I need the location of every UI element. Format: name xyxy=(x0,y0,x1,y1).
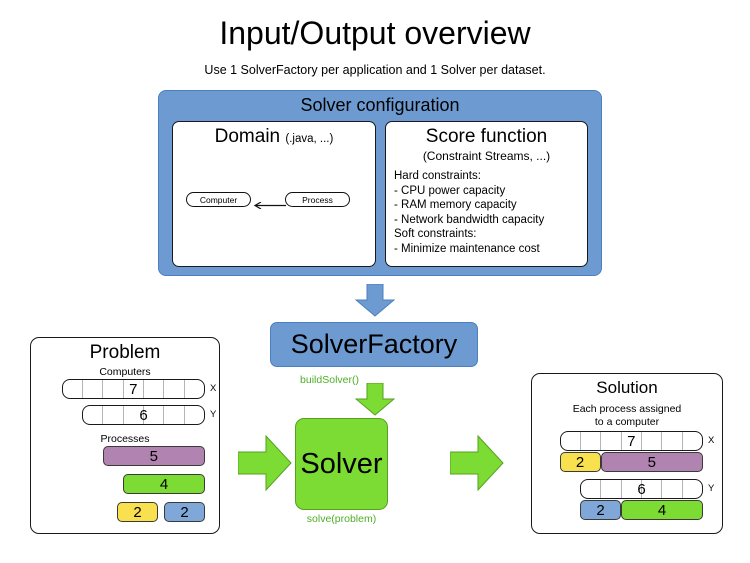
constraint-line: Hard constraints: xyxy=(394,169,584,184)
process-bar: 5 xyxy=(103,446,206,466)
process-value: 4 xyxy=(658,502,666,519)
computer-capacity-bar: 6 xyxy=(580,479,703,499)
solve-problem-label: solve(problem) xyxy=(295,513,388,526)
domain-title-sub: (.java, ...) xyxy=(285,133,333,145)
computer-name-label: X xyxy=(708,431,714,451)
capacity-value: 6 xyxy=(637,481,645,498)
process-bar: 2 xyxy=(560,452,601,472)
problem-processes-label: Processes xyxy=(30,433,220,446)
computer-capacity-bar: 6 xyxy=(82,405,205,425)
process-value: 5 xyxy=(648,454,656,471)
domain-title: Domain (.java, ...) xyxy=(172,124,376,152)
constraint-line: - CPU power capacity xyxy=(394,184,584,199)
score-function-subtitle: (Constraint Streams, ...) xyxy=(385,148,588,164)
problem-title: Problem xyxy=(30,340,220,365)
process-bar: 2 xyxy=(580,500,621,520)
computer-name-label: Y xyxy=(708,479,714,499)
constraint-line: Soft constraints: xyxy=(394,227,584,242)
process-bar: 4 xyxy=(621,500,703,520)
arrow-right-green-input-icon xyxy=(238,434,292,492)
constraint-line: - Network bandwidth capacity xyxy=(394,213,584,228)
arrow-down-green-icon xyxy=(355,383,395,416)
computer-name-label: X xyxy=(210,379,216,399)
page-subtitle: Use 1 SolverFactory per application and … xyxy=(0,62,750,78)
process-value: 2 xyxy=(576,454,584,471)
score-function-title: Score function xyxy=(385,124,588,149)
process-value: 2 xyxy=(180,504,188,521)
solution-note-line-1: Each process assigned xyxy=(531,403,723,416)
computer-capacity-bar: 7 xyxy=(62,379,206,399)
process-bar: 2 xyxy=(117,502,158,522)
problem-computers-label: Computers xyxy=(30,366,220,379)
process-value: 2 xyxy=(596,502,604,519)
computer-capacity-bar: 7 xyxy=(560,431,704,451)
arrow-right-green-output-icon xyxy=(450,434,504,492)
process-value: 5 xyxy=(150,448,158,465)
solver-configuration-title: Solver configuration xyxy=(158,93,602,117)
capacity-value: 7 xyxy=(129,381,137,398)
solution-title: Solution xyxy=(531,376,723,399)
constraint-line: - RAM memory capacity xyxy=(394,198,584,213)
arrow-down-blue-icon xyxy=(355,284,395,317)
solution-note-line-2: to a computer xyxy=(531,416,723,429)
page-title: Input/Output overview xyxy=(0,14,750,52)
capacity-value: 7 xyxy=(627,433,635,450)
process-bar: 5 xyxy=(601,452,704,472)
computer-name-label: Y xyxy=(210,405,216,425)
constraints-list: Hard constraints:- CPU power capacity- R… xyxy=(394,169,584,257)
constraint-line: - Minimize maintenance cost xyxy=(394,242,584,257)
process-value: 4 xyxy=(160,476,168,493)
uml-node-process: Process xyxy=(285,192,350,207)
solver-box: Solver xyxy=(295,418,388,510)
domain-title-main: Domain xyxy=(215,126,280,147)
process-value: 2 xyxy=(133,504,141,521)
solution-note: Each process assigned to a computer xyxy=(531,403,723,429)
capacity-value: 6 xyxy=(139,407,147,424)
process-bar: 4 xyxy=(123,474,205,494)
build-solver-label: buildSolver() xyxy=(289,374,359,387)
solver-factory-box: SolverFactory xyxy=(270,322,478,367)
uml-association-arrow xyxy=(251,202,286,209)
process-bar: 2 xyxy=(164,502,205,522)
uml-node-computer: Computer xyxy=(186,192,251,207)
